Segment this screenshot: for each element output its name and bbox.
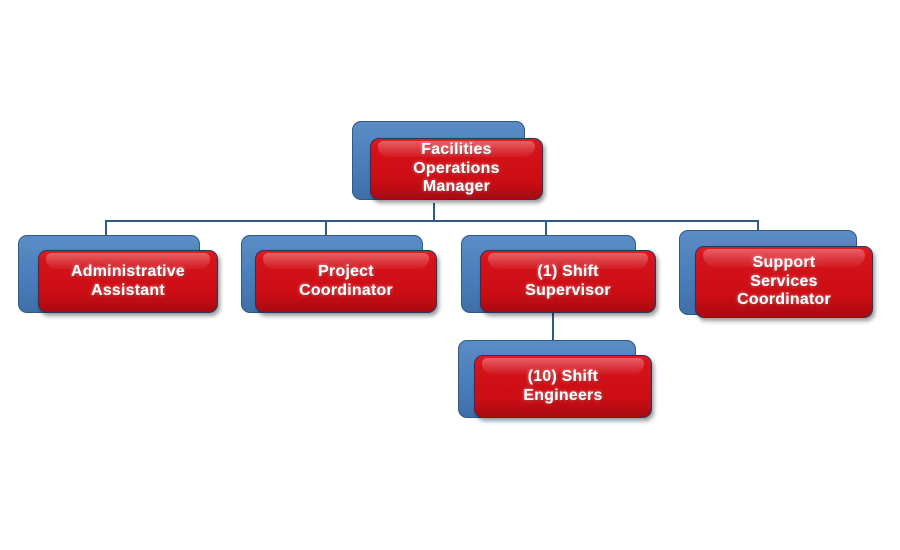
node-shift-supervisor[interactable]: (1) Shift Supervisor: [461, 235, 636, 313]
org-chart-canvas: Facilities Operations Manager Administra…: [0, 0, 900, 550]
node-label: Administrative Assistant: [63, 263, 193, 301]
node-face[interactable]: Facilities Operations Manager: [370, 138, 543, 200]
connector-root-stem: [433, 203, 435, 221]
node-label: Project Coordinator: [291, 263, 401, 301]
node-face[interactable]: (10) Shift Engineers: [474, 355, 652, 418]
node-face[interactable]: Project Coordinator: [255, 250, 437, 313]
connector-supervisor-to-engineers: [552, 312, 554, 342]
node-project-coordinator[interactable]: Project Coordinator: [241, 235, 423, 313]
node-face[interactable]: (1) Shift Supervisor: [480, 250, 656, 313]
node-face[interactable]: Support Services Coordinator: [695, 246, 873, 318]
node-label: Support Services Coordinator: [729, 254, 839, 311]
node-shift-engineers[interactable]: (10) Shift Engineers: [458, 340, 636, 418]
node-support-services-coordinator[interactable]: Support Services Coordinator: [679, 230, 857, 315]
node-administrative-assistant[interactable]: Administrative Assistant: [18, 235, 200, 313]
connector-horizontal-bus: [105, 220, 758, 222]
node-facilities-operations-manager[interactable]: Facilities Operations Manager: [352, 121, 525, 200]
node-label: Facilities Operations Manager: [405, 141, 507, 198]
node-face[interactable]: Administrative Assistant: [38, 250, 218, 313]
node-label: (1) Shift Supervisor: [517, 263, 619, 301]
node-label: (10) Shift Engineers: [515, 368, 610, 406]
